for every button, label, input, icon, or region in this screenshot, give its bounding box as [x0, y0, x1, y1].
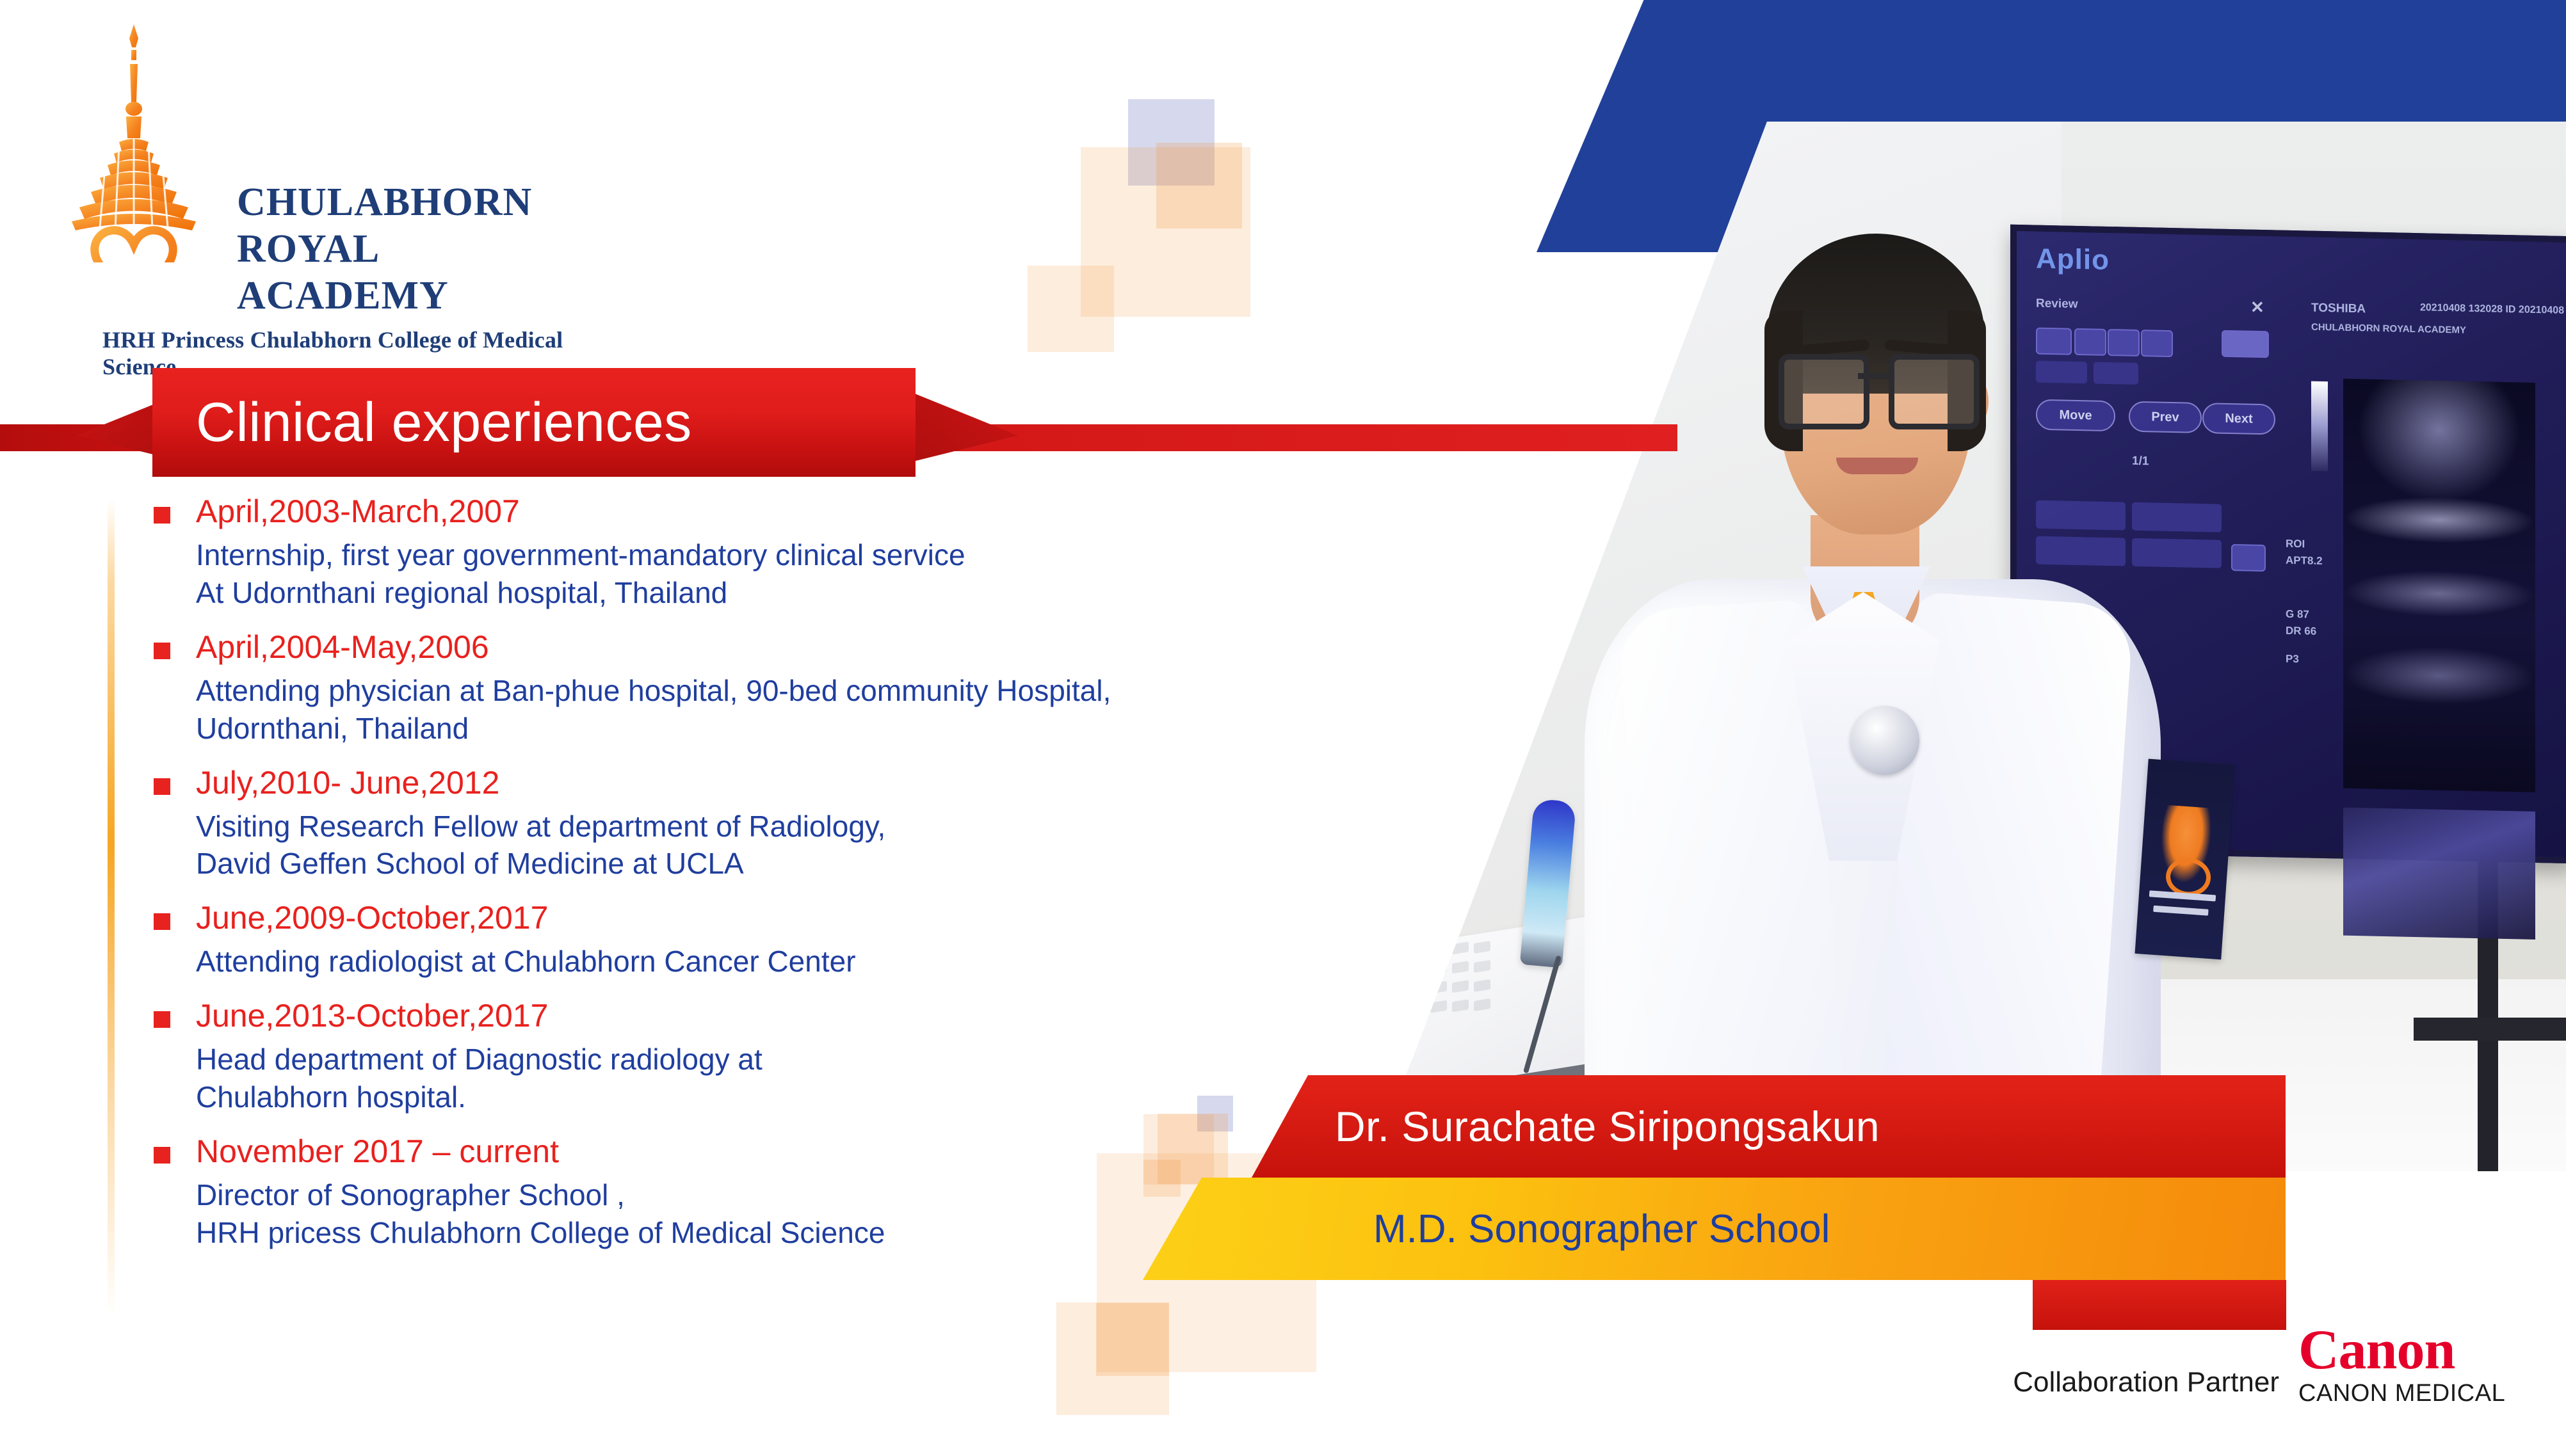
monitor-close-icon[interactable]: ✕ — [2250, 298, 2264, 317]
eyeglasses — [1779, 354, 1974, 420]
speaker-name-banner: Dr. Surachate Siripongsakun — [1252, 1075, 2286, 1178]
monitor-meta-apt: APT8.2 — [2286, 554, 2323, 568]
chulabhorn-emblem-icon — [58, 19, 211, 262]
experience-period: June,2009-October,2017 — [196, 899, 1370, 936]
speaker-name: Dr. Surachate Siripongsakun — [1335, 1102, 1880, 1151]
monitor-vendor-label: TOSHIBA — [2311, 301, 2366, 317]
institution-logo: CHULABHORN ROYAL ACADEMY HRH Princess Ch… — [45, 19, 621, 352]
canon-wordmark: Canon — [2298, 1324, 2516, 1377]
monitor-meta-roi: ROI — [2286, 538, 2305, 551]
list-item: July,2010- June,2012 Visiting Research F… — [154, 764, 1370, 883]
experience-period: April,2004-May,2006 — [196, 628, 1370, 666]
experience-detail: Attending physician at Ban-phue hospital… — [196, 672, 1370, 748]
accent-vertical-line — [108, 499, 115, 1318]
section-title-ribbon: Clinical experiences — [0, 368, 1677, 477]
monitor-meta-g: G 87 — [2286, 608, 2309, 621]
doctor-figure — [1549, 182, 2190, 1171]
page-title: Clinical experiences — [196, 395, 692, 450]
experience-detail: Internship, first year government-mandat… — [196, 536, 1370, 612]
slide-root: Aplio Review TOSHIBA 20210408 132028 ID … — [0, 0, 2566, 1456]
bullet-square-icon — [154, 1147, 170, 1164]
ribbon-tail-right — [935, 424, 1677, 451]
experience-period: November 2017 – current — [196, 1133, 1370, 1170]
decor-square-peach-small-top — [1028, 266, 1114, 352]
chulabhorn-name-badge — [2135, 759, 2235, 960]
list-item: April,2003-March,2007 Internship, first … — [154, 493, 1370, 612]
logo-line-1: CHULABHORN — [237, 179, 595, 226]
experience-period: July,2010- June,2012 — [196, 764, 1370, 801]
bullet-square-icon — [154, 507, 170, 524]
monitor-stand-shelf — [2414, 1018, 2566, 1041]
logo-line-2: ROYAL ACADEMY — [237, 226, 595, 319]
speaker-photo: Aplio Review TOSHIBA 20210408 132028 ID … — [1370, 122, 2566, 1171]
speaker-role: M.D. Sonographer School — [1373, 1206, 1830, 1252]
bullet-square-icon — [154, 643, 170, 659]
canon-logo: Canon CANON MEDICAL — [2298, 1324, 2516, 1407]
monitor-meta-dr: DR 66 — [2286, 625, 2316, 638]
canon-medical-label: CANON MEDICAL — [2298, 1380, 2516, 1407]
experience-detail: Visiting Research Fellow at department o… — [196, 808, 1370, 883]
list-item: April,2004-May,2006 Attending physician … — [154, 628, 1370, 748]
experience-list: April,2003-March,2007 Internship, first … — [154, 493, 1370, 1268]
bullet-square-icon — [154, 778, 170, 795]
experience-detail: Attending radiologist at Chulabhorn Canc… — [196, 943, 1370, 980]
bullet-square-icon — [154, 913, 170, 930]
monitor-next-button[interactable]: Next — [2202, 403, 2275, 435]
logo-wordmark: CHULABHORN ROYAL ACADEMY — [237, 179, 595, 319]
speaker-banner-foot-accent — [2033, 1280, 2286, 1330]
ribbon-body: Clinical experiences — [152, 368, 916, 477]
monitor-meta-p3: P3 — [2286, 653, 2299, 666]
list-item: June,2009-October,2017 Attending radiolo… — [154, 899, 1370, 980]
speaker-role-banner: M.D. Sonographer School — [1143, 1178, 2286, 1280]
experience-detail: Head department of Diagnostic radiology … — [196, 1041, 1370, 1116]
collaboration-partner-label: Collaboration Partner — [1921, 1366, 2279, 1398]
coat-pin — [1850, 706, 1919, 775]
experience-period: April,2003-March,2007 — [196, 493, 1370, 530]
bullet-square-icon — [154, 1011, 170, 1028]
decor-square-peach-f — [1096, 1303, 1169, 1376]
list-item: June,2013-October,2017 Head department o… — [154, 997, 1370, 1116]
experience-period: June,2013-October,2017 — [196, 997, 1370, 1034]
